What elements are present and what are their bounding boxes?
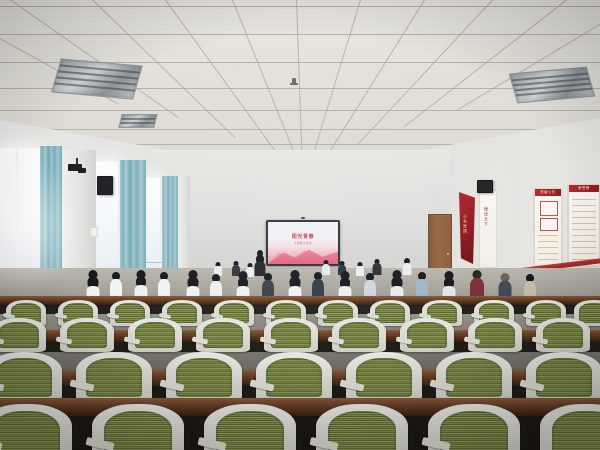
window-curtain [120,160,146,284]
auditorium-chair[interactable] [436,352,512,402]
classroom-photo: 阳光青春 主题教育讲座 心系家国 德泽天下 班级公约 荣誉榜 [0,0,600,450]
ceiling-light-fixture [118,114,157,128]
auditorium-chair[interactable] [0,352,62,402]
auditorium-chair[interactable] [332,318,386,352]
wall-speaker-left [97,176,113,195]
audience-member [524,274,536,298]
window-curtain [162,176,178,272]
red-calligraphy-banner: 心系家国 [459,192,475,264]
auditorium-chair[interactable] [540,404,600,450]
auditorium-chair[interactable] [166,352,242,402]
audience-member [442,271,455,298]
slide-subtitle: 主题教育讲座 [268,241,338,245]
auditorium-chair[interactable] [128,318,182,352]
auditorium-chair[interactable] [346,352,422,402]
audience-member [312,272,324,298]
poster-right: 荣誉榜 [568,184,600,266]
wall-pillar [178,176,190,270]
auditorium-chair[interactable] [468,318,522,352]
auditorium-chair[interactable] [76,352,152,402]
auditorium-chair[interactable] [204,404,296,450]
audience-member [186,270,199,298]
projection-screen-image: 阳光青春 主题教育讲座 [268,222,338,264]
audience-member [356,262,364,276]
audience-member [364,273,376,298]
ceiling-light-fixture [51,58,143,99]
white-calligraphy-banner: 德泽天下 [479,190,497,268]
audience-member [416,272,428,298]
screen-camera-icon [301,217,305,219]
sprinkler-head [292,78,296,85]
auditorium-chair[interactable] [536,318,590,352]
poster-left: 班级公约 [534,188,562,266]
white-banner-text: 德泽天下 [484,207,489,227]
auditorium-chair[interactable] [400,318,454,352]
audience-member [262,273,274,298]
audience-member [134,270,147,298]
auditorium-chair[interactable] [196,318,250,352]
audience-member [402,258,411,275]
audience-member [338,271,351,298]
auditorium-chair[interactable] [526,352,600,402]
wall-speaker-right [477,180,493,193]
auditorium-chair[interactable] [428,404,520,450]
red-banner-text: 心系家国 [463,214,468,234]
poster-right-header: 荣誉榜 [569,185,599,192]
auditorium-chair[interactable] [0,404,72,450]
audience-member [470,270,484,298]
exterior-window [146,178,160,272]
auditorium-chair[interactable] [60,318,114,352]
audience-member [288,270,301,298]
wall-notice [90,227,98,237]
audience-member [86,270,99,298]
auditorium-chair[interactable] [264,318,318,352]
auditorium-chair[interactable] [256,352,332,402]
audience-member [498,273,511,298]
slide-title: 阳光青春 [268,233,338,240]
auditorium-chair[interactable] [0,318,46,352]
audience-member [158,272,170,298]
auditorium-chair[interactable] [92,404,184,450]
classroom-door[interactable] [428,214,452,274]
poster-left-header: 班级公约 [535,189,561,196]
audience-member [210,274,222,298]
ceiling-camera [78,168,86,173]
ceiling-light-fixture [509,67,596,104]
auditorium-chair[interactable] [316,404,408,450]
audience-member [236,271,249,298]
door-knob[interactable] [447,253,449,255]
audience-member [390,270,403,298]
audience-member [110,272,122,298]
